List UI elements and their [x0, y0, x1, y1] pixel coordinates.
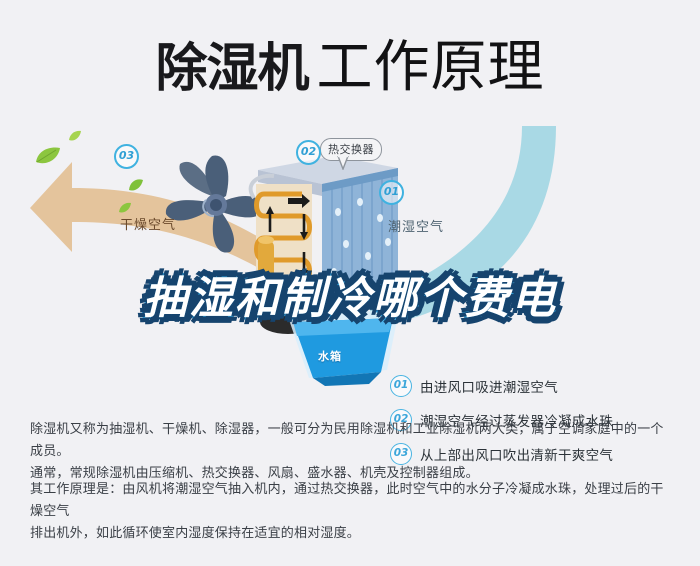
body-paragraph-2-line-2: 排出机外，如此循环使室内湿度保持在适宜的相对湿度。	[30, 522, 675, 544]
body-paragraph-2-line-1: 其工作原理是：由风机将潮湿空气抽入机内，通过热交换器，此时空气中的水分子冷凝成水…	[30, 478, 675, 522]
legend-item-01: 01 由进风口吸进潮湿空气	[390, 369, 690, 403]
leaf-icon	[118, 202, 132, 214]
body-paragraph-1-line-1: 除湿机又称为抽湿机、干燥机、除湿器，一般可分为民用除湿机和工业除湿机两大类，属于…	[30, 418, 675, 462]
legend-badge-01: 01	[390, 375, 412, 397]
legend-text-01: 由进风口吸进潮湿空气	[420, 376, 558, 396]
water-tank-icon	[283, 308, 403, 386]
leaf-icon	[68, 130, 82, 142]
water-tank-label: 水箱	[318, 348, 342, 364]
page-title-secondary: 工作原理	[317, 35, 545, 98]
dry-air-label: 干燥空气	[120, 214, 176, 233]
page-title-primary: 除湿机	[155, 39, 308, 99]
illustration-badge-02: 02	[296, 140, 321, 165]
illustration-badge-03: 03	[114, 144, 139, 169]
body-paragraph-1: 除湿机又称为抽湿机、干燥机、除湿器，一般可分为民用除湿机和工业除湿机两大类，属于…	[30, 418, 675, 484]
leaf-icon	[128, 178, 144, 192]
infographic-page: 除湿机工作原理	[0, 0, 700, 566]
heat-exchanger-callout: 热交换器	[320, 138, 382, 161]
callout-tail-icon	[337, 156, 349, 170]
illustration-stage: 水箱 热交换器 03 02 01 干燥空气 潮湿空气 01 由进风口吸进潮湿空气…	[0, 120, 700, 385]
humid-air-label: 潮湿空气	[388, 216, 444, 235]
leaf-icon	[34, 146, 62, 166]
page-title: 除湿机工作原理	[0, 22, 700, 103]
body-paragraph-2: 其工作原理是：由风机将潮湿空气抽入机内，通过热交换器，此时空气中的水分子冷凝成水…	[30, 478, 675, 544]
illustration-badge-01: 01	[379, 180, 404, 205]
